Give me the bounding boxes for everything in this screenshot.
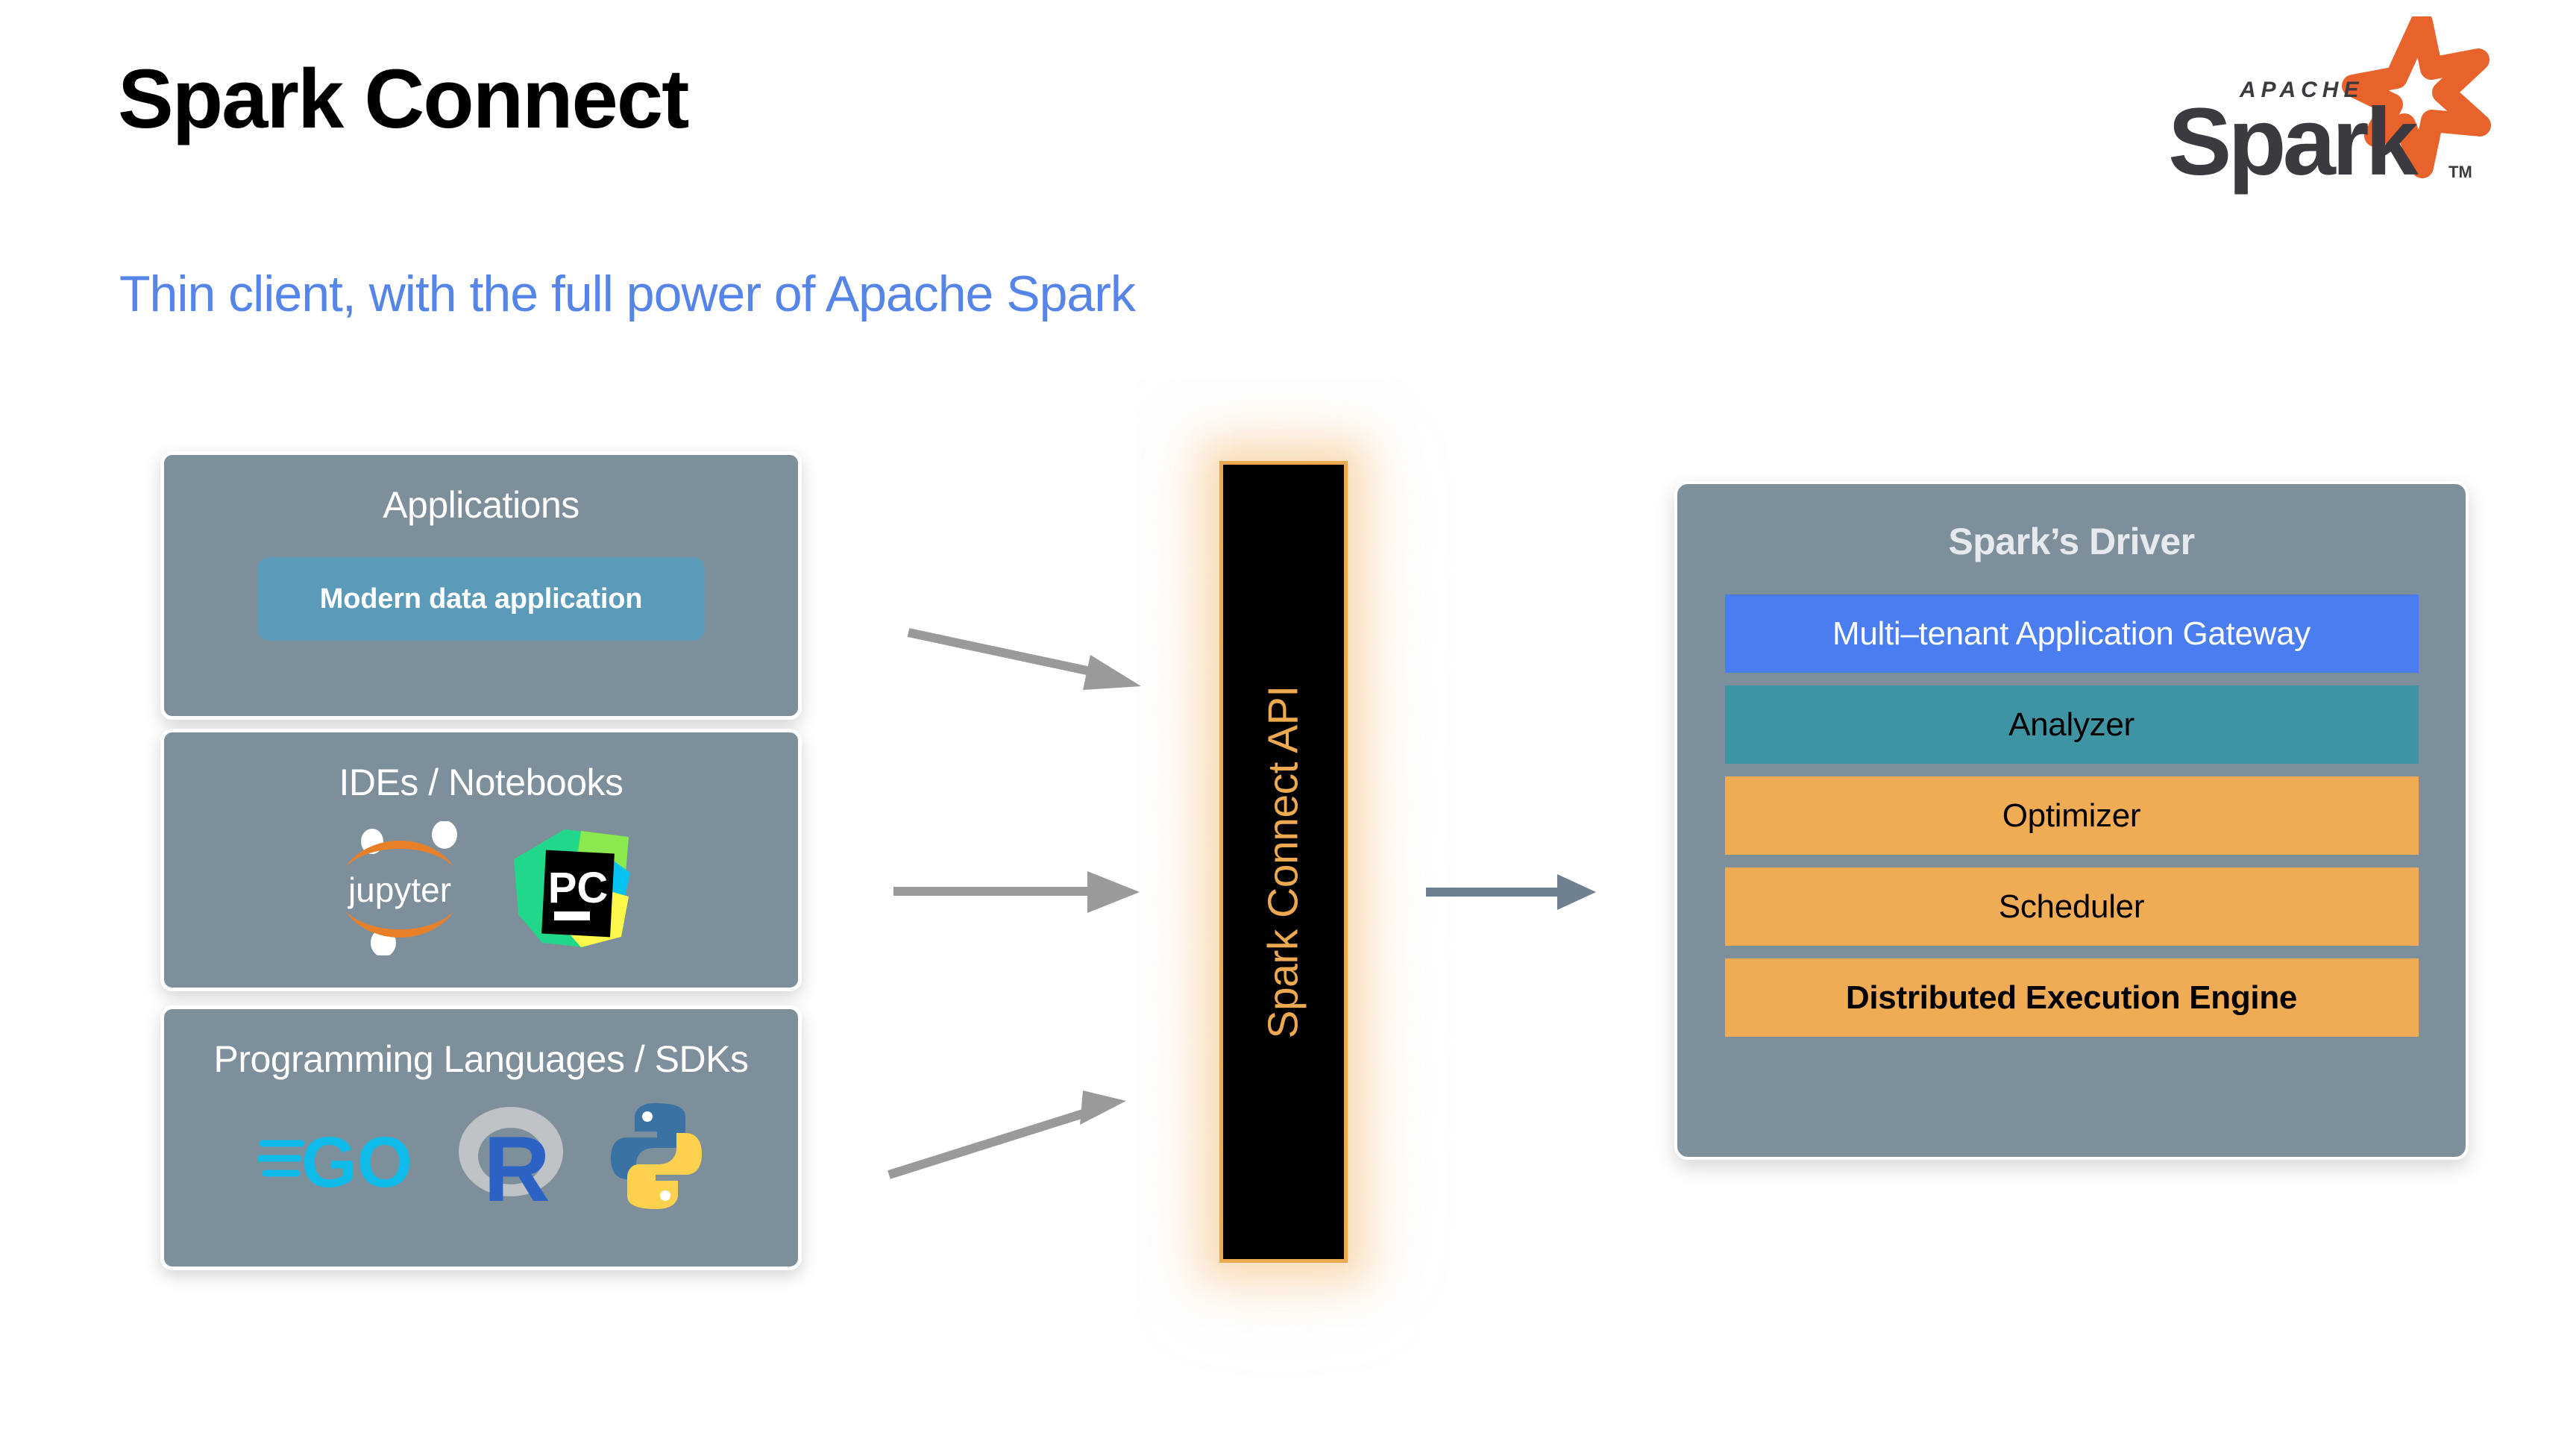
driver-row-label: Scheduler: [1999, 888, 2144, 926]
svg-text:GO: GO: [301, 1123, 412, 1197]
svg-text:Spark: Spark: [2168, 89, 2419, 195]
driver-row-label: Distributed Execution Engine: [1846, 979, 2297, 1017]
svg-text:R: R: [483, 1118, 550, 1214]
spark-connect-api-bar[interactable]: Spark Connect API: [1219, 461, 1348, 1263]
driver-row-list: Multi–tenant Application Gateway Analyze…: [1677, 594, 2466, 1037]
arrow-api-to-driver: [1426, 874, 1596, 910]
r-logo: R: [453, 1098, 569, 1217]
client-box-applications[interactable]: Applications Modern data application: [160, 451, 802, 720]
client-box-ides-notebooks[interactable]: IDEs / Notebooks jupyter: [160, 729, 802, 991]
svg-text:PC: PC: [548, 864, 609, 912]
apache-spark-logo: APACHE Spark TM: [2129, 16, 2502, 210]
arrow-languages-to-api: [889, 1090, 1126, 1175]
svg-text:TM: TM: [2448, 163, 2472, 181]
driver-row-multi-tenant-application-gateway[interactable]: Multi–tenant Application Gateway: [1725, 594, 2419, 673]
ide-logo-row: jupyter PC: [164, 821, 798, 959]
jupyter-logo: jupyter: [329, 821, 471, 959]
pycharm-logo: PC: [509, 825, 633, 955]
client-box-title: IDEs / Notebooks: [339, 761, 623, 805]
page-title: Spark Connect: [118, 55, 688, 143]
driver-row-label: Multi–tenant Application Gateway: [1832, 615, 2310, 653]
client-box-title: Programming Languages / SDKs: [214, 1038, 749, 1082]
driver-row-label: Analyzer: [2008, 706, 2134, 744]
driver-row-scheduler[interactable]: Scheduler: [1725, 867, 2419, 946]
spark-connect-api-label: Spark Connect API: [1259, 685, 1308, 1038]
go-logo: GO: [258, 1115, 415, 1201]
driver-row-label: Optimizer: [2002, 797, 2141, 835]
modern-data-application-pill[interactable]: Modern data application: [257, 557, 705, 641]
language-logo-row: GO R: [164, 1098, 798, 1217]
python-logo: [608, 1100, 705, 1216]
svg-text:jupyter: jupyter: [347, 870, 451, 909]
page-subtitle: Thin client, with the full power of Apac…: [119, 265, 1135, 323]
spark-driver-title: Spark’s Driver: [1948, 520, 2194, 563]
driver-row-analyzer[interactable]: Analyzer: [1725, 685, 2419, 764]
client-box-title: Applications: [383, 483, 579, 527]
arrow-ides-to-api: [893, 871, 1140, 913]
spark-driver-panel[interactable]: Spark’s Driver Multi–tenant Application …: [1674, 481, 2469, 1160]
driver-row-distributed-execution-engine[interactable]: Distributed Execution Engine: [1725, 958, 2419, 1037]
slide-canvas: Spark Connect Thin client, with the full…: [0, 0, 2576, 1447]
driver-row-optimizer[interactable]: Optimizer: [1725, 776, 2419, 855]
client-box-programming-languages[interactable]: Programming Languages / SDKs GO: [160, 1005, 802, 1270]
arrow-applications-to-api: [908, 633, 1141, 690]
